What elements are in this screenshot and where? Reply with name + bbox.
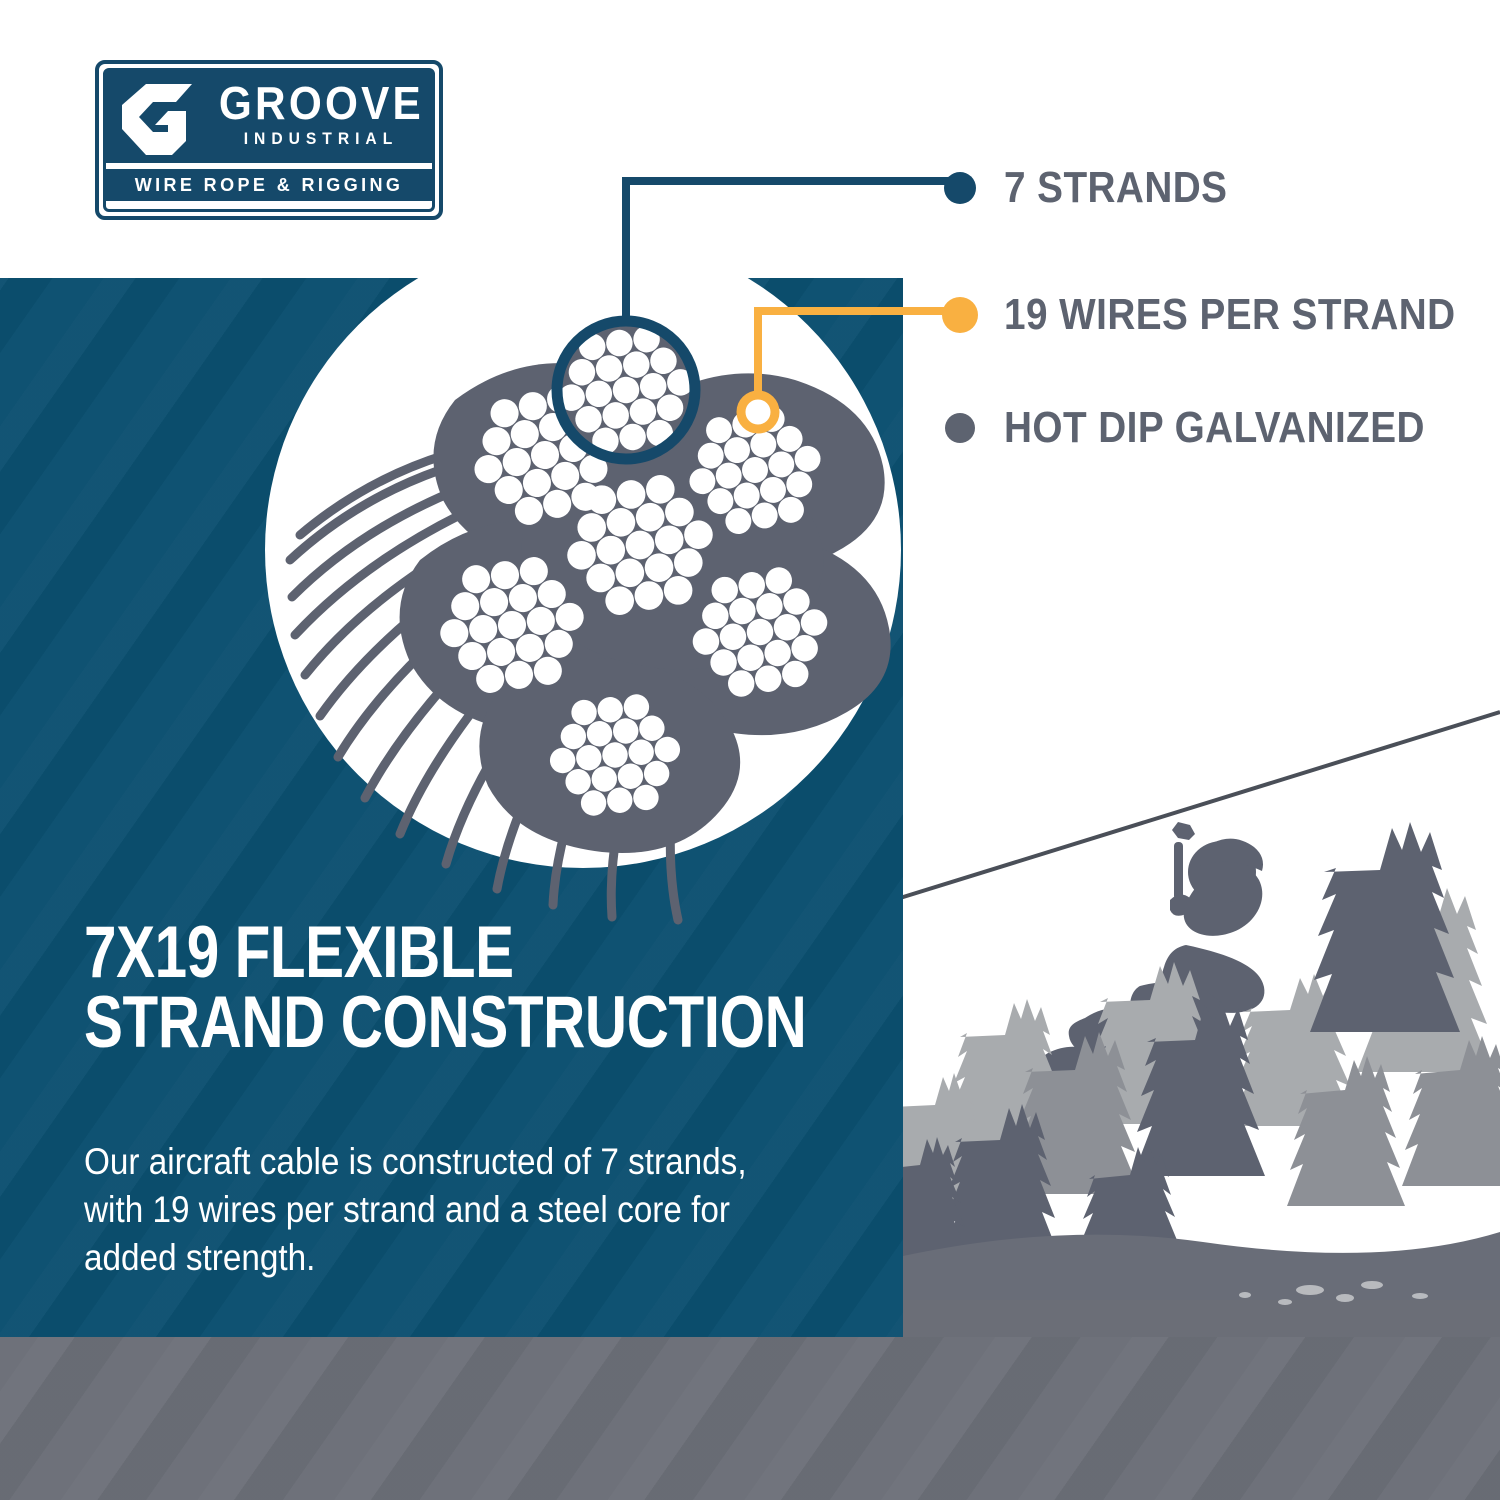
callout-label-galvanized: HOT DIP GALVANIZED [1004,403,1425,453]
callout-dot-amber-icon [942,297,978,333]
connector-line-strands [626,181,952,322]
callout-dot-gray-icon [945,413,975,443]
callout-strands: 7 STRANDS [944,163,1258,213]
infographic-canvas: GROOVE INDUSTRIAL WIRE ROPE & RIGGING [0,0,1500,1500]
wire-highlight-ring-icon [741,395,775,429]
callout-label-strands: 7 STRANDS [1004,163,1227,213]
callout-connectors [0,0,1500,1500]
callout-dot-navy-icon [944,172,976,204]
callout-label-wires: 19 WIRES PER STRAND [1004,290,1456,340]
callout-wires-per-strand: 19 WIRES PER STRAND [942,290,1500,340]
callout-galvanized: HOT DIP GALVANIZED [945,403,1482,453]
connector-line-wires [758,311,956,412]
